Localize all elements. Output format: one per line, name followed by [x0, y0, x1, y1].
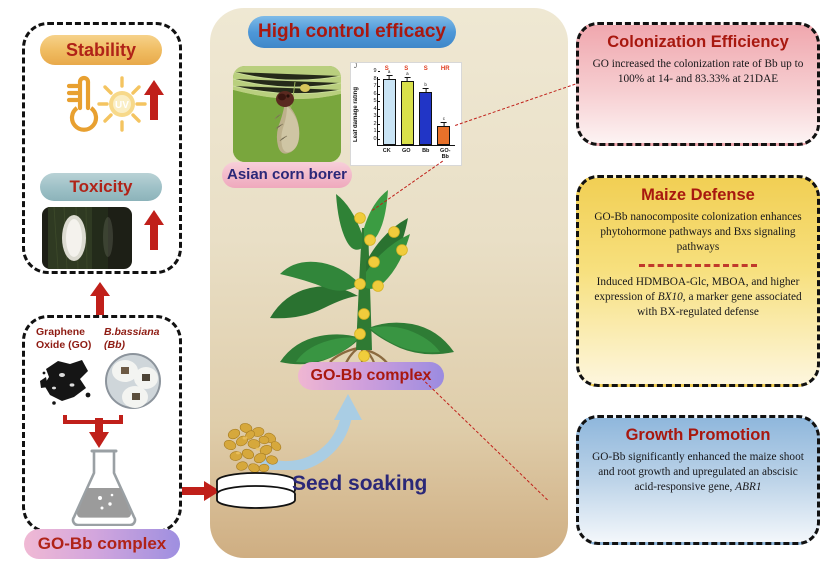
growth-promotion-body: GO-Bb significantly enhanced the maize s…: [591, 450, 805, 495]
chart-plot-area: 0123456789 aabc: [377, 77, 455, 146]
arrow-up-icon: [143, 80, 165, 125]
chart-significance-label: HR: [439, 66, 452, 72]
growth-body-pre: GO-Bb significantly enhanced the maize s…: [592, 451, 804, 493]
chart-bar: c: [437, 126, 450, 145]
chart-x-label: Bb: [419, 148, 432, 160]
chart-bar: b: [419, 92, 432, 145]
svg-text:UV: UV: [115, 100, 129, 111]
chart-ylabel: Leaf damage rating: [350, 81, 362, 147]
graphene-oxide-label: Graphene Oxide (GO): [36, 326, 102, 352]
leaf-damage-rating-chart: J Leaf damage rating SSSHR 0123456789 aa…: [350, 62, 462, 166]
colonization-efficiency-body: GO increased the colonization rate of Bb…: [591, 57, 805, 87]
colonization-efficiency-box: Colonization Efficiency GO increased the…: [576, 22, 820, 146]
chart-x-label: GO-Bb: [439, 148, 452, 160]
chart-error-bar: [425, 88, 426, 93]
chart-significance-label: S: [380, 66, 393, 72]
chart-bar: a: [401, 81, 414, 145]
dashed-divider: [639, 264, 757, 267]
chart-x-tick-labels: CKGOBbGO-Bb: [377, 148, 455, 160]
go-bb-complex-label-left: GO-Bb complex: [24, 529, 180, 559]
chart-value-label: a: [406, 71, 409, 76]
beauveria-bassiana-colonies-petri-dish-photo: [104, 352, 162, 410]
chart-value-label: c: [443, 116, 445, 121]
maize-defense-title: Maize Defense: [591, 186, 805, 205]
chart-error-bar: [443, 122, 444, 127]
chart-bar-group: a: [383, 77, 396, 145]
go-bb-complex-label-center: GO-Bb complex: [298, 362, 444, 390]
asian-corn-borer-label: Asian corn borer: [222, 162, 352, 188]
toxicity-label: Toxicity: [40, 173, 162, 201]
chart-bar-group: a: [401, 77, 414, 145]
bb-label-line1: B.bassiana: [104, 326, 159, 338]
chart-bars: aabc: [378, 77, 455, 145]
defense-gene-name: BX10: [658, 291, 683, 303]
graphene-oxide-flakes-photo: [36, 355, 98, 407]
go-label-line1: Graphene: [36, 326, 85, 338]
seed-soaking-label: Seed soaking: [292, 472, 427, 496]
bb-label-line2: (Bb): [104, 339, 125, 351]
maize-defense-body: GO-Bb nanocomposite colonization enhance…: [591, 210, 805, 255]
chart-error-bar: [407, 77, 408, 82]
chart-panel-letter: J: [354, 64, 357, 70]
maize-seedling-with-go-bb-particles: [262, 188, 512, 370]
asian-corn-borer-larva-on-leaf-photo: [233, 66, 341, 162]
b-bassiana-label: B.bassiana (Bb): [104, 326, 174, 352]
chart-bar-group: b: [419, 77, 432, 145]
chart-value-label: b: [424, 82, 427, 87]
growth-promotion-box: Growth Promotion GO-Bb significantly enh…: [576, 415, 820, 545]
chart-x-label: GO: [400, 148, 413, 160]
chart-error-bar: [389, 75, 390, 80]
chart-bar: a: [383, 79, 396, 145]
colonization-efficiency-title: Colonization Efficiency: [591, 33, 805, 52]
maize-defense-body2: Induced HDMBOA-Glc, MBOA, and higher exp…: [591, 275, 805, 320]
page-title: High control efficacy: [248, 16, 456, 48]
stability-label: Stability: [40, 35, 162, 65]
maize-defense-box: Maize Defense GO-Bb nanocomposite coloni…: [576, 175, 820, 387]
chart-y-tick: 9: [373, 68, 378, 74]
maize-seeds-pile: [220, 418, 290, 476]
growth-gene-name: ABR1: [735, 481, 761, 493]
chart-value-label: a: [388, 69, 391, 74]
go-label-line2: Oxide (GO): [36, 339, 91, 351]
arrow-up-icon: [143, 210, 165, 255]
petri-dish-icon: [215, 472, 297, 510]
graphical-abstract: Stability UV Toxicity: [0, 0, 832, 582]
chart-x-label: CK: [380, 148, 393, 160]
chart-bar-group: c: [437, 77, 450, 145]
chart-significance-label: S: [419, 66, 432, 72]
fungal-growth-on-leaf-photo: [42, 207, 132, 269]
erlenmeyer-flask-icon: [66, 448, 142, 526]
growth-promotion-title: Growth Promotion: [591, 426, 805, 445]
